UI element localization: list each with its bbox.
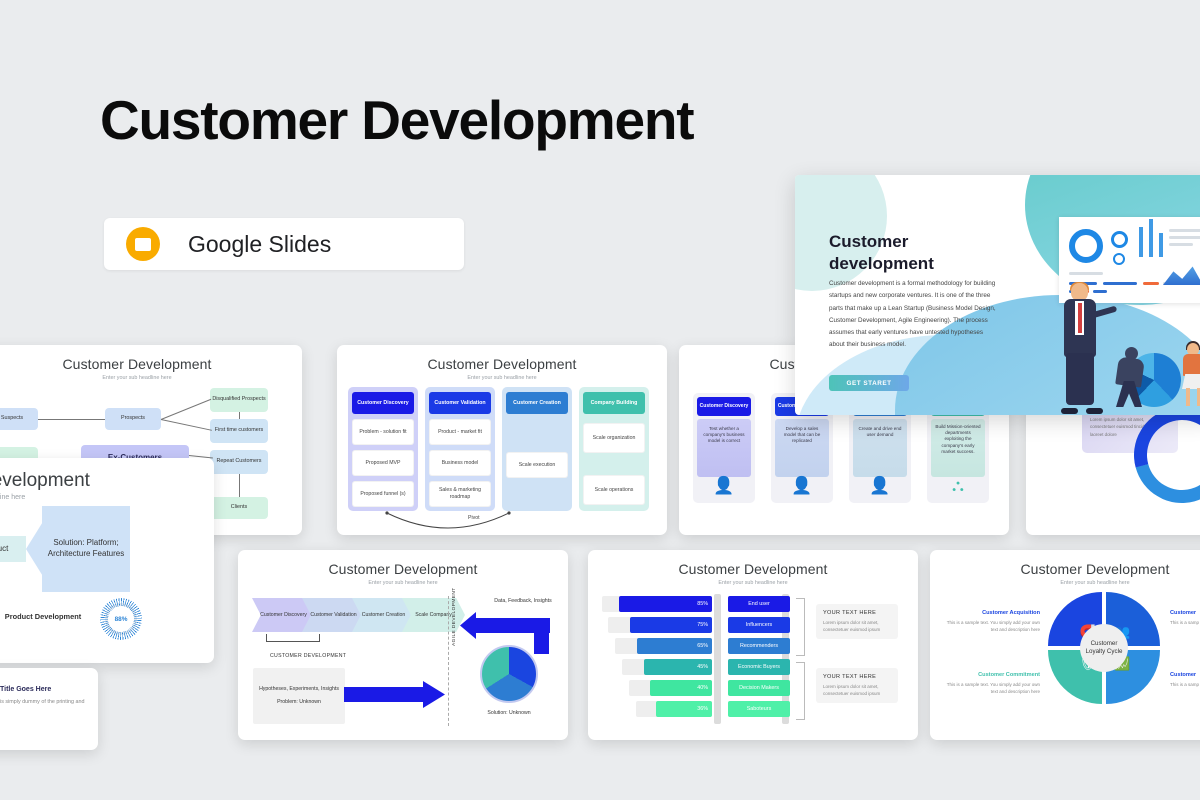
bar-row: 85% <box>602 596 712 612</box>
column-item: Scale organization <box>583 423 645 453</box>
bar-row: 75% <box>608 617 712 633</box>
featured-body: Customer development is a formal methodo… <box>829 278 997 352</box>
caption-text: This is a sample text. You simply add yo… <box>942 681 1040 695</box>
featured-title: Customer development <box>829 231 934 275</box>
person-telescope-icon: 👤 <box>697 477 751 499</box>
hypotheses-box: Hypotheses, Experiments, Insights Proble… <box>253 668 345 724</box>
slide-thumbnail-four-columns[interactable]: Customer Development Enter your sub head… <box>337 345 667 535</box>
slide-title: Customer Development <box>238 561 568 577</box>
circle-icon <box>1113 253 1125 265</box>
solution-box-product: product <box>0 536 26 562</box>
bar-label: Decision Makers <box>728 680 790 696</box>
illustration-presenter <box>1059 283 1105 411</box>
column-customer-creation: Customer Creation Scale execution <box>502 387 572 511</box>
solution-box-platform: Solution: Platform; Architecture Feature… <box>42 506 130 592</box>
caption-customer-retention: Customer This is a samp own text and d <box>1170 610 1200 626</box>
spine-left <box>714 594 721 724</box>
funnel-node-clients: Clients <box>210 497 268 519</box>
solution-arrow-left <box>26 520 44 578</box>
bracket-top <box>796 598 805 656</box>
bar-label: Saboteurs <box>728 701 790 717</box>
cycle-diagram: 🧲 👥 💹 🛡 Customer Loyalty Cycle <box>1048 592 1160 704</box>
skirt <box>1182 374 1200 389</box>
hypotheses-line2: Problem: Unknown <box>277 699 321 707</box>
column-item: Proposed funnel (s) <box>352 481 414 507</box>
column-customer-validation: Customer Validation Product - market fit… <box>425 387 495 511</box>
top <box>1183 354 1200 376</box>
connector-line <box>239 474 240 497</box>
page-title: Customer Development <box>100 88 693 152</box>
slide-thumbnail-cutoff[interactable]: Title Goes Here is simply dummy of the p… <box>0 668 98 750</box>
line-icon <box>1143 282 1159 285</box>
bar-label: Influencers <box>728 617 790 633</box>
funnel-node-disqualified-prospects: Disqualified Prospects <box>210 388 268 412</box>
slide-thumbnail-solution[interactable]: ...er Development ...er your sub headlin… <box>0 458 214 663</box>
caption-customer-value: Customer This is a samp own text and d <box>1170 672 1200 688</box>
cutoff-body: is simply dummy of the printing and <box>0 698 86 707</box>
arrow-right-head <box>423 681 445 708</box>
pie-chart <box>480 645 538 703</box>
funnel-node-first-time-customers: First time customers <box>210 419 268 443</box>
loop-arrow-side <box>534 618 549 654</box>
caption-title: Customer <box>1170 610 1200 616</box>
person-megaphone-icon: 👤 <box>853 477 907 499</box>
legs <box>1186 388 1200 408</box>
cutoff-title: Title Goes Here <box>0 686 51 693</box>
column-item: Scale operations <box>583 475 645 505</box>
bar-icon <box>1159 233 1163 257</box>
solution-label: Solution: Unknown <box>484 710 534 716</box>
slide-title: Customer Development <box>930 561 1200 577</box>
slide-title: Customer Development <box>337 356 667 372</box>
connector-line <box>239 412 240 419</box>
shoe <box>1061 408 1078 414</box>
legs <box>1066 353 1094 405</box>
funnel-node-repeat-customers: Repeat Customers <box>210 450 268 474</box>
bracket-bottom <box>796 662 805 720</box>
line-icon <box>1169 236 1200 239</box>
note-card: YOUR TEXT HERE Lorem ipsum dolor sit ame… <box>816 668 898 703</box>
column-item: Business model <box>429 450 491 476</box>
bar-fill: 40% <box>650 680 712 696</box>
featured-title-line1: Customer <box>829 231 934 253</box>
illustration-person-right <box>1175 343 1200 409</box>
slide-thumbnail-bar-chart[interactable]: Customer Development Enter your sub head… <box>588 550 918 740</box>
caption-title: Customer Commitment <box>942 672 1040 678</box>
caption-text: This is a samp own text and d <box>1170 681 1200 688</box>
note-title: YOUR TEXT HERE <box>823 610 891 616</box>
slide-subtitle: ...er your sub headline here <box>0 494 25 501</box>
product-development-label: Product Development <box>0 608 86 626</box>
bar-label: Recommenders <box>728 638 790 654</box>
column-customer-discovery: Customer Discovery Problem - solution fi… <box>348 387 418 511</box>
badge-label: Google Slides <box>188 231 331 258</box>
caption-customer-acquisition: Customer Acquisition This is a sample te… <box>942 610 1040 633</box>
connector-line <box>161 399 211 420</box>
column-header: Customer Validation <box>429 392 491 414</box>
divider <box>448 596 449 726</box>
column-item: Problem - solution fit <box>352 419 414 445</box>
person-chart-icon: 👤 <box>775 477 829 499</box>
slide-thumbnail-process[interactable]: Customer Development Enter your sub head… <box>238 550 568 740</box>
note-title: YOUR TEXT HERE <box>823 674 891 680</box>
card-header: Customer Discovery <box>697 397 751 416</box>
gauge-value: 88% <box>100 598 142 640</box>
persona-card-discovery: Customer Discovery Test whether a compan… <box>693 393 755 503</box>
slide-subtitle: Enter your sub headline here <box>0 375 302 381</box>
column-header: Company Building <box>583 392 645 414</box>
slide-thumbnail-loyalty-cycle[interactable]: Customer Development Enter your sub head… <box>930 550 1200 740</box>
column-header: Customer Discovery <box>352 392 414 414</box>
slide-subtitle: Enter your sub headline here <box>588 580 918 586</box>
caption-text: This is a samp own text and d <box>1170 619 1200 626</box>
slide-subtitle: Enter your sub headline here <box>238 580 568 586</box>
shoe <box>1086 408 1103 414</box>
cycle-hub: Customer Loyalty Cycle <box>1080 624 1128 672</box>
bar-label: Economic Buyers <box>728 659 790 675</box>
connector-line <box>161 419 212 431</box>
bar-fill: 65% <box>637 638 712 654</box>
card-body: Test whether a company's business model … <box>697 419 751 477</box>
customer-development-label: CUSTOMER DEVELOPMENT <box>270 653 346 659</box>
caption-title: Customer <box>1170 672 1200 678</box>
line-icon <box>1169 243 1193 246</box>
get-started-button[interactable]: GET STARET <box>829 375 909 391</box>
org-chart-icon: ⛬ <box>931 477 985 499</box>
column-item: Scale execution <box>506 452 568 478</box>
bar-fill: 75% <box>630 617 712 633</box>
note-text: Lorem ipsum dolor sit amet, consectetuer… <box>823 683 891 697</box>
slide-title: Customer Development <box>0 356 302 372</box>
bar-row: 40% <box>629 680 712 696</box>
column-item: Sales & marketing roadmap <box>429 481 491 507</box>
bar-icon <box>1139 227 1143 257</box>
caption-text: This is a sample text. You simply add yo… <box>942 619 1040 633</box>
hub-line2: Loyalty Cycle <box>1086 648 1123 656</box>
card-body: Build Mission-oriented departments explo… <box>931 419 985 477</box>
column-header: Customer Creation <box>506 392 568 414</box>
donut-icon <box>1069 229 1103 263</box>
hypotheses-line1: Hypotheses, Experiments, Insights <box>259 686 339 694</box>
featured-slide[interactable]: Customer development Customer developmen… <box>795 175 1200 415</box>
slide-subtitle: Enter your sub headline here <box>337 375 667 381</box>
note-card: YOUR TEXT HERE Lorem ipsum dolor sit ame… <box>816 604 898 639</box>
column-item: Product - market fit <box>429 419 491 445</box>
bar-fill: 45% <box>644 659 712 675</box>
pivot-label: Pivot <box>468 515 480 521</box>
google-slides-icon <box>126 227 160 261</box>
area-chart-icon <box>1163 263 1200 285</box>
connector-line <box>38 419 105 420</box>
card-body: Develop a sales model that can be replic… <box>775 419 829 477</box>
agile-development-label: AGILE DEVELOPMENT <box>452 587 457 646</box>
bracket <box>266 634 320 642</box>
line-icon <box>1069 272 1103 275</box>
slide-title: Customer Development <box>588 561 918 577</box>
bar-row: 36% <box>636 701 712 717</box>
line-icon <box>1169 229 1200 232</box>
funnel-node-prospects: Prospects <box>105 408 161 430</box>
featured-title-line2: development <box>829 253 934 275</box>
illustration-person-pushing <box>1111 347 1149 409</box>
bar-fill: 36% <box>656 701 712 717</box>
bar-icon <box>1149 219 1153 257</box>
card-body: Create and drive end user demand <box>853 419 907 477</box>
caption-customer-commitment: Customer Commitment This is a sample tex… <box>942 672 1040 695</box>
circle-icon <box>1111 231 1128 248</box>
feedback-label: Data, Feedback, Insights <box>487 598 559 606</box>
bar-row: 45% <box>622 659 712 675</box>
google-slides-badge[interactable]: Google Slides <box>104 218 464 270</box>
funnel-node-suspects: Suspects <box>0 408 38 430</box>
slide-title: ...er Development <box>0 470 90 492</box>
bar-label: End user <box>728 596 790 612</box>
column-item: Proposed MVP <box>352 450 414 476</box>
pivot-arc-icon <box>385 511 511 533</box>
caption-title: Customer Acquisition <box>942 610 1040 616</box>
line-icon <box>1103 282 1137 285</box>
note-text: Lorem ipsum dolor sit amet, consectetuer… <box>823 619 891 633</box>
progress-gauge: 88% <box>100 598 142 640</box>
hub-line1: Customer <box>1086 640 1123 648</box>
tie <box>1078 303 1082 333</box>
slide-subtitle: Enter your sub headline here <box>930 580 1200 586</box>
column-company-building: Company Building Scale organization Scal… <box>579 387 649 511</box>
arrow-right-stem <box>344 687 426 702</box>
bar-fill: 85% <box>619 596 712 612</box>
bar-row: 65% <box>615 638 712 654</box>
